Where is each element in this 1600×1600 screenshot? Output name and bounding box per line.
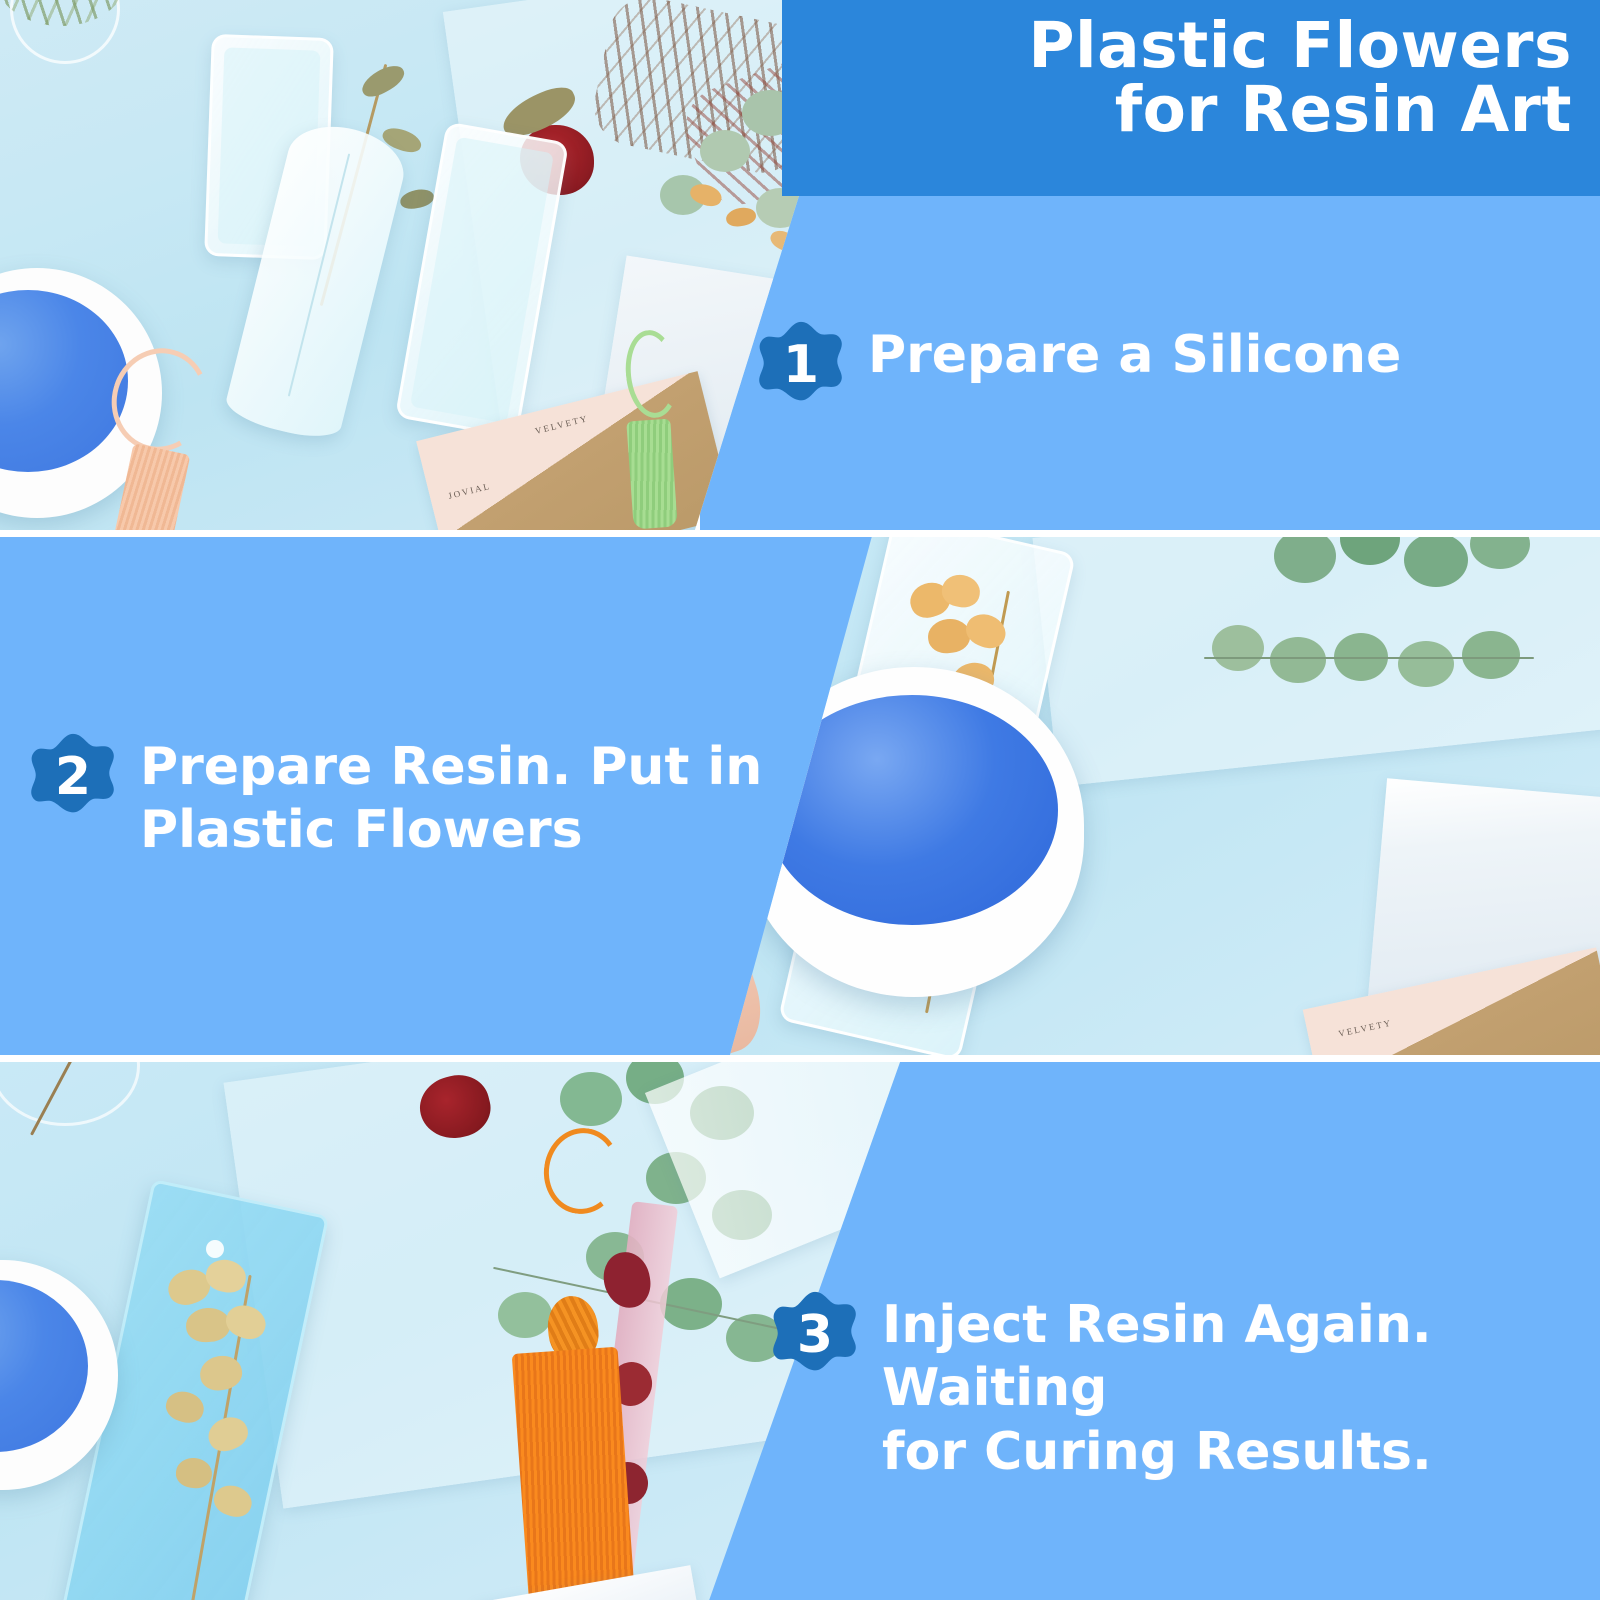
star-blob-badge-icon: 1 xyxy=(752,318,850,416)
step-number: 2 xyxy=(24,730,122,828)
step-1: 1 Prepare a Silicone xyxy=(752,318,1592,416)
page-title: Plastic Flowers for Resin Art xyxy=(802,14,1572,143)
tassel-skirt xyxy=(626,419,677,530)
card-caption-right: VELVETY xyxy=(1337,1018,1393,1039)
eucalyptus-leaf xyxy=(1270,637,1326,683)
blue-resin-liquid xyxy=(0,290,128,472)
step-2-label: Prepare Resin. Put in Plastic Flowers xyxy=(140,730,762,863)
step-3-label: Inject Resin Again. Waiting for Curing R… xyxy=(882,1288,1596,1484)
star-blob-badge-icon: 3 xyxy=(766,1288,864,1386)
step-number: 3 xyxy=(766,1288,864,1386)
bookmark-hole xyxy=(206,1240,224,1258)
infographic-page: JOVIAL VELVETY 1 Prepare xyxy=(0,0,1600,1600)
card-caption-right: VELVETY xyxy=(534,413,589,436)
eucalyptus-leaf xyxy=(1212,625,1264,671)
eucalyptus-leaf xyxy=(498,1292,552,1338)
star-blob-badge-icon: 2 xyxy=(24,730,122,828)
card-caption-left: JOVIAL xyxy=(447,481,492,501)
eucalyptus-leaf xyxy=(1462,631,1520,679)
eucalyptus-leaf xyxy=(700,130,750,172)
eucalyptus-stem xyxy=(1204,657,1534,659)
step-3: 3 Inject Resin Again. Waiting for Curing… xyxy=(766,1288,1596,1484)
blue-resin-liquid xyxy=(0,1280,88,1452)
eucalyptus-leaf xyxy=(560,1072,622,1126)
step-number: 1 xyxy=(752,318,850,416)
header-band: Plastic Flowers for Resin Art xyxy=(782,0,1600,196)
tassel-skirt xyxy=(512,1347,639,1600)
eucalyptus-leaf xyxy=(1398,641,1454,687)
step-1-label: Prepare a Silicone xyxy=(868,318,1401,387)
step-2: 2 Prepare Resin. Put in Plastic Flowers xyxy=(24,730,824,863)
